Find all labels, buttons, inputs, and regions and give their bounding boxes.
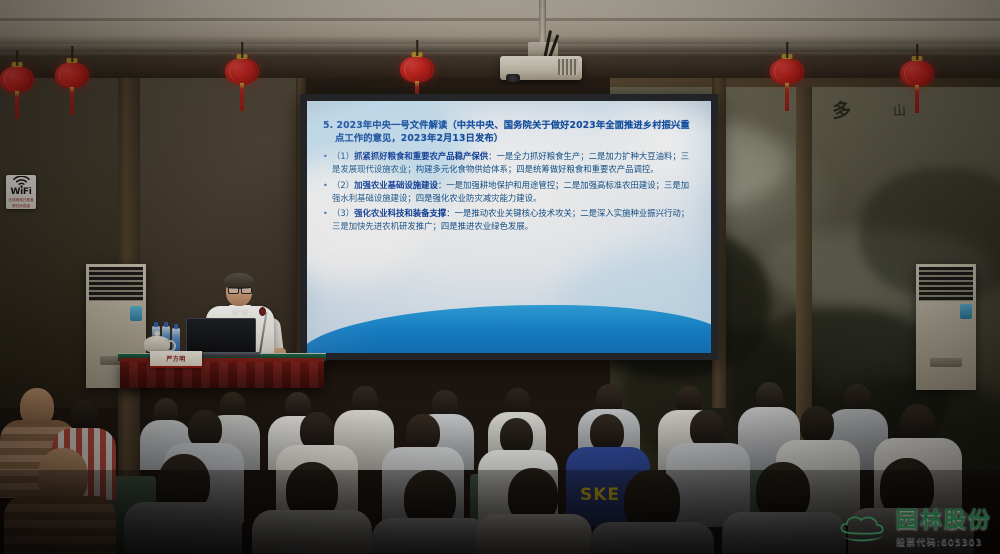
watermark-brand: 园林股份 xyxy=(896,510,992,532)
audience-body-front xyxy=(372,518,490,554)
watermark-stock-code: 股票代码:605303 xyxy=(896,535,983,548)
watermark: 园林股份 股票代码:605303 xyxy=(837,510,992,548)
audience-body-front xyxy=(124,502,242,554)
audience-body-front xyxy=(252,510,372,554)
audience-head xyxy=(800,406,834,444)
watermark-text: 园林股份 股票代码:605303 xyxy=(896,510,992,548)
audience-body-front xyxy=(476,514,592,554)
audience-area: SKE xyxy=(0,0,1000,554)
audience-body-front xyxy=(722,512,846,554)
photo-stage: 多 山 5. 2023年中央一号文件解读（中共中央、国务院关于做好2023年全面… xyxy=(0,0,1000,554)
audience-body-front xyxy=(4,496,116,554)
shirt-text: SKE xyxy=(580,485,620,505)
tree-cloud-logo-icon xyxy=(837,512,889,546)
audience-body-front xyxy=(590,522,714,554)
